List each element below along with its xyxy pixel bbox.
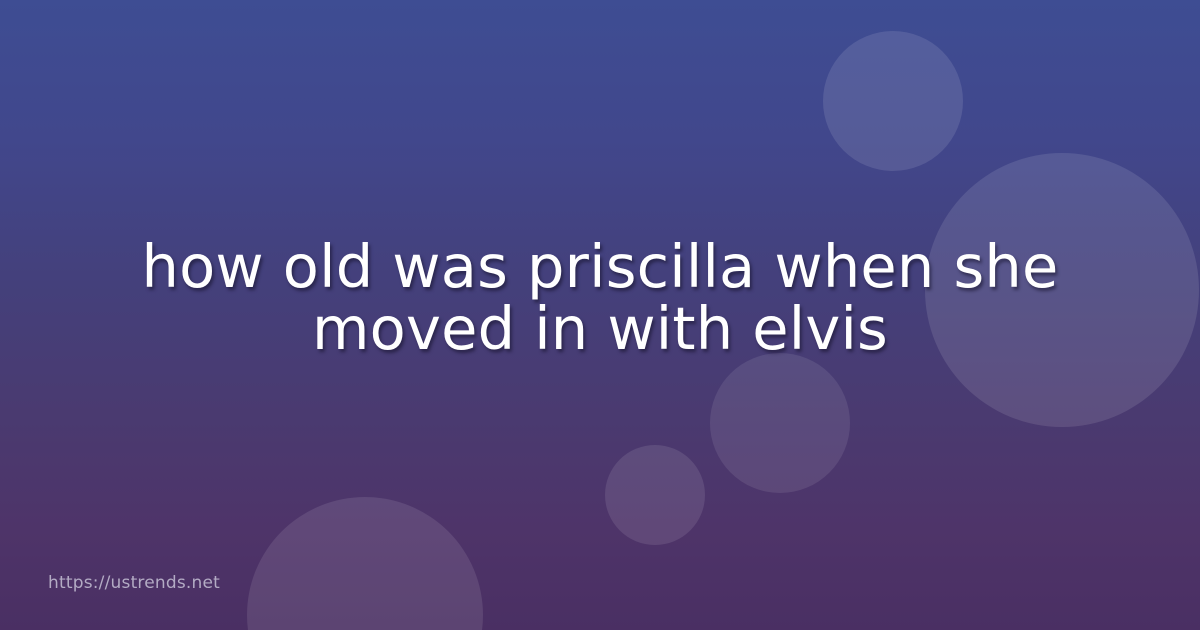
- page-title: how old was priscilla when she moved in …: [60, 236, 1140, 360]
- circle-center-small-icon: [605, 445, 705, 545]
- circle-top-right-small-icon: [823, 31, 963, 171]
- circle-bottom-left-large-icon: [247, 497, 483, 630]
- circle-center-mid-icon: [710, 353, 850, 493]
- site-url-label: https://ustrends.net: [48, 572, 220, 594]
- og-share-card: how old was priscilla when she moved in …: [0, 0, 1200, 630]
